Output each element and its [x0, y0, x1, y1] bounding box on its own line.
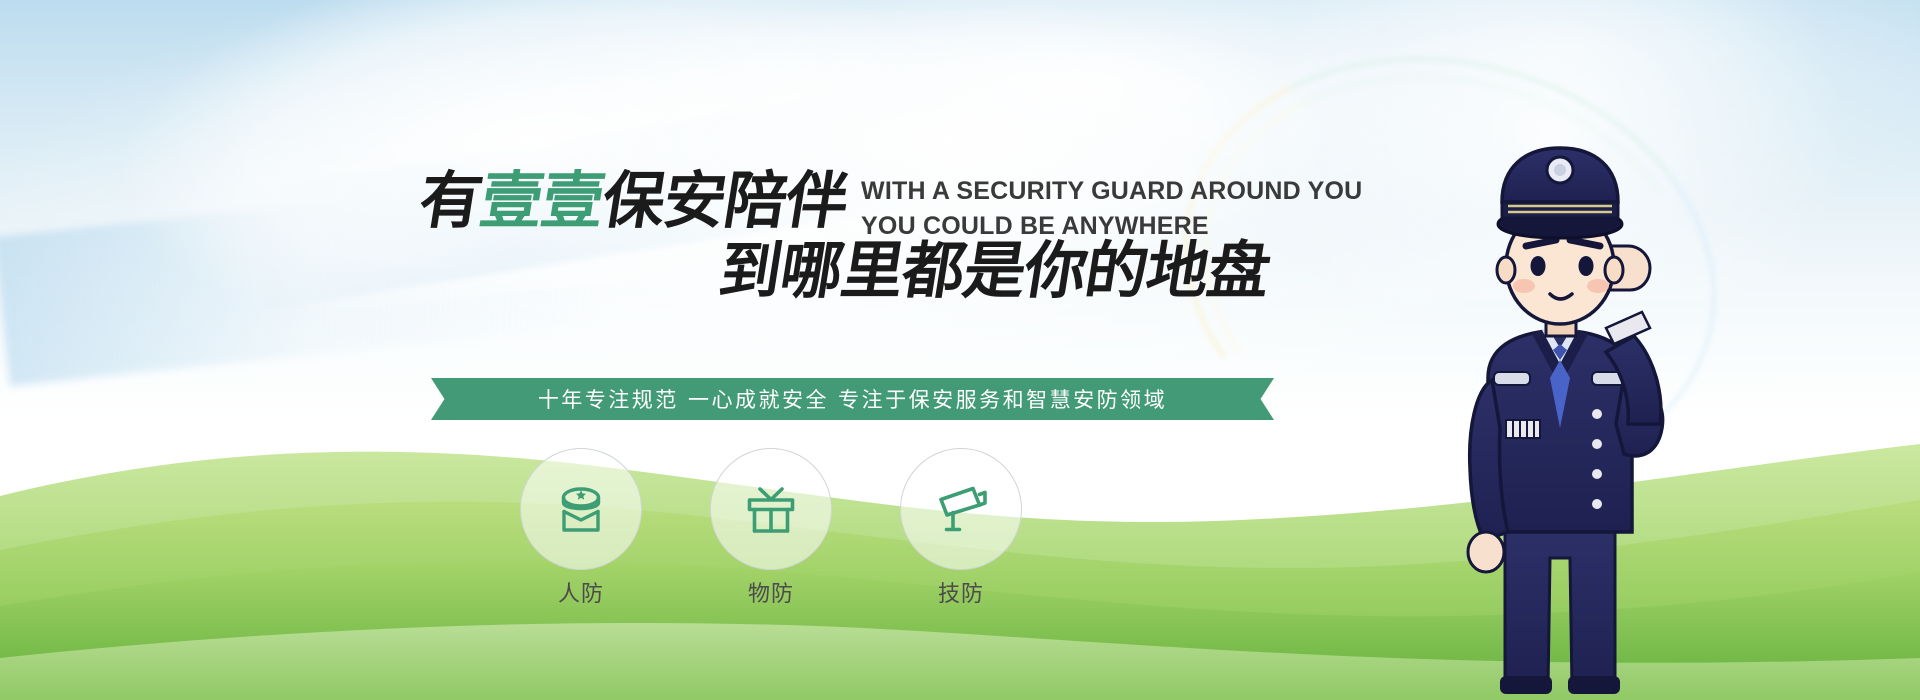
- feature-label: 人防: [558, 576, 604, 608]
- hero-banner: 有壹壹保安陪伴 WITH A SECURITY GUARD AROUND YOU…: [0, 0, 1920, 700]
- feature-item-human-defense[interactable]: 人防: [520, 448, 642, 608]
- headline-line-1-post: 保安陪伴: [597, 164, 853, 237]
- feature-item-technical-defense[interactable]: 技防: [900, 448, 1022, 608]
- feature-label: 物防: [748, 576, 794, 608]
- headline-line-1: 有壹壹保安陪伴: [415, 170, 852, 232]
- tagline-ribbon: 十年专注规范 一心成就安全 专注于保安服务和智慧安防领域: [431, 378, 1274, 420]
- feature-circle: [710, 448, 832, 570]
- cctv-camera-icon: [932, 481, 990, 537]
- feature-label: 技防: [938, 576, 984, 608]
- english-subtitle-block: WITH A SECURITY GUARD AROUND YOU YOU COU…: [861, 174, 1362, 243]
- english-subtitle-line-1: WITH A SECURITY GUARD AROUND YOU: [861, 174, 1362, 209]
- police-cap-icon: [551, 481, 611, 537]
- saluting-security-guard-illustration: [1410, 128, 1740, 700]
- feature-circle: [520, 448, 642, 570]
- gate-barrier-icon: [742, 481, 800, 537]
- headline-row: 有壹壹保安陪伴 WITH A SECURITY GUARD AROUND YOU…: [420, 170, 1362, 243]
- feature-item-physical-defense[interactable]: 物防: [710, 448, 832, 608]
- feature-list: 人防 物防: [520, 448, 1022, 608]
- feature-circle: [900, 448, 1022, 570]
- headline-brand-accent: 壹壹: [475, 164, 609, 237]
- headline-line-2: 到哪里都是你的地盘: [715, 240, 1274, 302]
- ribbon-text: 十年专注规范 一心成就安全 专注于保安服务和智慧安防领域: [431, 378, 1274, 420]
